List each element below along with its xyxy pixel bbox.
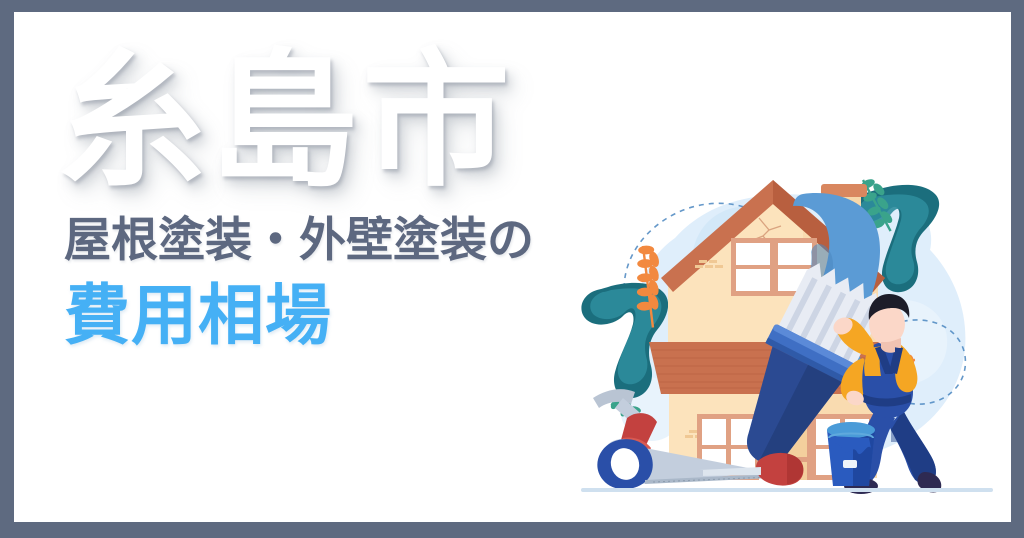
highlight-line: 費用相場: [64, 278, 618, 354]
banner-frame: 糸島市 屋根塗装・外壁塗装の 費用相場: [0, 0, 1024, 538]
subtitle-line: 屋根塗装・外壁塗装の: [64, 211, 618, 270]
city-title: 糸島市: [58, 46, 618, 197]
paint-bucket: [827, 422, 875, 486]
ground-line: [581, 488, 993, 492]
headline-text-block: 糸島市 屋根塗装・外壁塗装の 費用相場: [58, 46, 618, 354]
banner-canvas: 糸島市 屋根塗装・外壁塗装の 費用相場: [14, 12, 1011, 522]
house-painting-illustration: [563, 142, 1011, 498]
